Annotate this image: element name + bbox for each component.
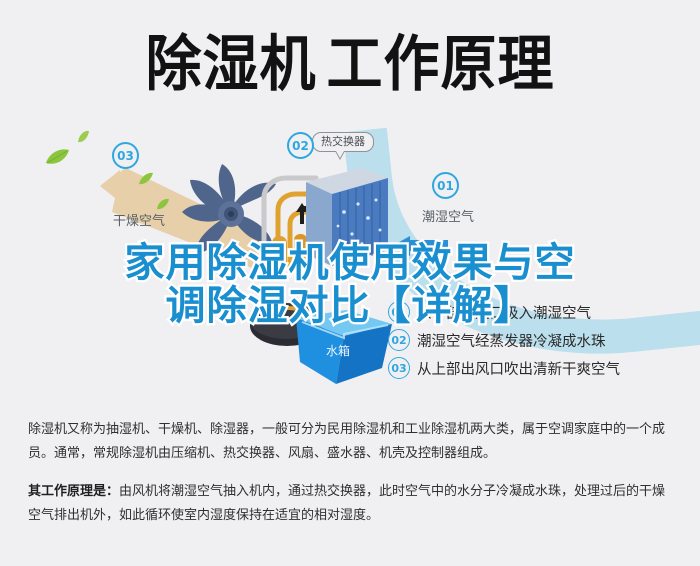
illustration-badge-03: 03 xyxy=(112,142,139,169)
illustration-badge-01: 01 xyxy=(432,172,459,199)
leaf-icon xyxy=(44,148,70,166)
principle-illustration: 热交换器 03 02 01 干燥空气 潮湿空气 水箱 01 从下部进风口吸入潮湿… xyxy=(0,120,700,410)
step-item: 03 从上部出风口吹出清新干爽空气 xyxy=(388,354,688,382)
step-item: 02 潮湿空气经蒸发器冷凝成水珠 xyxy=(388,326,688,354)
step-text-02: 潮湿空气经蒸发器冷凝成水珠 xyxy=(417,330,606,351)
step-badge-02: 02 xyxy=(388,329,410,351)
page-header: 除湿机工作原理 xyxy=(0,20,700,110)
step-item: 01 从下部进风口吸入潮湿空气 xyxy=(388,298,688,326)
water-tank-label: 水箱 xyxy=(326,342,350,359)
humid-air-label: 潮湿空气 xyxy=(422,206,474,225)
leaf-icon xyxy=(138,172,154,186)
page-root: 除湿机工作原理 xyxy=(0,0,700,566)
step-list: 01 从下部进风口吸入潮湿空气 02 潮湿空气经蒸发器冷凝成水珠 03 从上部出… xyxy=(388,298,688,382)
article-body: 除湿机又称为抽湿机、干燥机、除湿器，一般可分为民用除湿机和工业除湿机两大类，属于… xyxy=(28,418,676,542)
heat-exchanger-callout-label: 热交换器 xyxy=(321,135,365,148)
step-badge-01: 01 xyxy=(388,301,410,323)
illustration-badge-02: 02 xyxy=(287,132,314,159)
paragraph-2-rest: 由风机将潮湿空气抽入机内，通过热交换器，此时空气中的水分子冷凝成水珠，处理过后的… xyxy=(28,484,665,523)
page-title: 除湿机工作原理 xyxy=(146,35,555,95)
dry-air-label: 干燥空气 xyxy=(113,210,165,229)
paragraph-1: 除湿机又称为抽湿机、干燥机、除湿器，一般可分为民用除湿机和工业除湿机两大类，属于… xyxy=(28,418,676,466)
page-title-part2: 工作原理 xyxy=(327,29,555,99)
step-text-01: 从下部进风口吸入潮湿空气 xyxy=(417,302,591,323)
humid-air-inflow-arrow-icon xyxy=(392,236,448,258)
swoosh-fade-mask xyxy=(600,120,696,180)
heat-exchanger-callout: 热交换器 xyxy=(312,132,374,152)
paragraph-2-lead: 其工作原理是： xyxy=(28,484,119,499)
leaf-icon xyxy=(76,130,90,144)
page-title-part1: 除湿机 xyxy=(146,29,317,99)
heat-exchanger-fins-icon xyxy=(300,156,392,274)
step-badge-03: 03 xyxy=(388,357,410,379)
step-text-03: 从上部出风口吹出清新干爽空气 xyxy=(417,358,620,379)
paragraph-2: 其工作原理是：由风机将潮湿空气抽入机内，通过热交换器，此时空气中的水分子冷凝成水… xyxy=(28,480,676,528)
